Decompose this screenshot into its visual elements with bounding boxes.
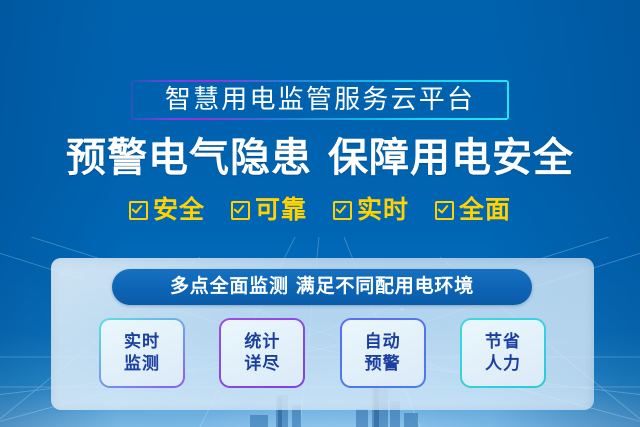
feature-card-list: 实时 监测 统计 详尽 自动 预警 节省 人力 [99, 318, 546, 388]
checkbox-checked-icon [129, 201, 148, 220]
feature-card-inner: 节省 人力 [462, 320, 544, 386]
feature-card-inner: 自动 预警 [342, 320, 424, 386]
page-title: 预警电气隐患保障用电安全 [0, 136, 640, 180]
headline-part-left: 预警电气隐患 [66, 136, 312, 180]
status-badge: 多点全面监测满足不同配用电环境 [112, 269, 532, 305]
brand-title-inner: 智慧用电监管服务云平台 [133, 82, 507, 118]
checkbox-checked-icon [231, 201, 250, 220]
feature-card-line1: 实时 [124, 332, 160, 352]
keyword-label: 可靠 [255, 198, 307, 223]
keyword-label: 实时 [357, 198, 409, 223]
feature-card-line2: 人力 [485, 354, 521, 374]
keyword-label: 安全 [153, 198, 205, 223]
brand-title-frame: 智慧用电监管服务云平台 [131, 80, 509, 120]
keyword-item: 安全 [129, 198, 205, 223]
keyword-label: 全面 [459, 198, 511, 223]
feature-card-line2: 监测 [124, 354, 160, 374]
headline-part-right: 保障用电安全 [328, 136, 574, 180]
banner-text: 多点全面监测满足不同配用电环境 [170, 277, 474, 296]
feature-card-labor-saving[interactable]: 节省 人力 [460, 318, 546, 388]
feature-card-line1: 节省 [485, 332, 521, 352]
keyword-item: 可靠 [231, 198, 307, 223]
feature-card-line1: 自动 [365, 332, 401, 352]
keyword-item: 全面 [435, 198, 511, 223]
feature-card-line2: 预警 [365, 354, 401, 374]
keyword-item: 实时 [333, 198, 409, 223]
feature-card-inner: 统计 详尽 [221, 320, 303, 386]
feature-card-automatic-alarm[interactable]: 自动 预警 [340, 318, 426, 388]
feature-card-inner: 实时 监测 [101, 320, 183, 386]
poster-canvas: 智慧用电监管服务云平台 预警电气隐患保障用电安全 安全 可靠 实时 全面 多点全… [0, 0, 640, 427]
feature-card-detailed-statistics[interactable]: 统计 详尽 [219, 318, 305, 388]
checkbox-checked-icon [435, 201, 454, 220]
keyword-list: 安全 可靠 实时 全面 [0, 198, 640, 223]
checkbox-checked-icon [333, 201, 352, 220]
feature-card-line2: 详尽 [244, 354, 280, 374]
feature-card-line1: 统计 [244, 332, 280, 352]
feature-card-realtime-monitoring[interactable]: 实时 监测 [99, 318, 185, 388]
brand-title-text: 智慧用电监管服务云平台 [165, 86, 475, 112]
banner-text-right: 满足不同配用电环境 [296, 276, 474, 297]
banner-text-left: 多点全面监测 [170, 276, 289, 297]
